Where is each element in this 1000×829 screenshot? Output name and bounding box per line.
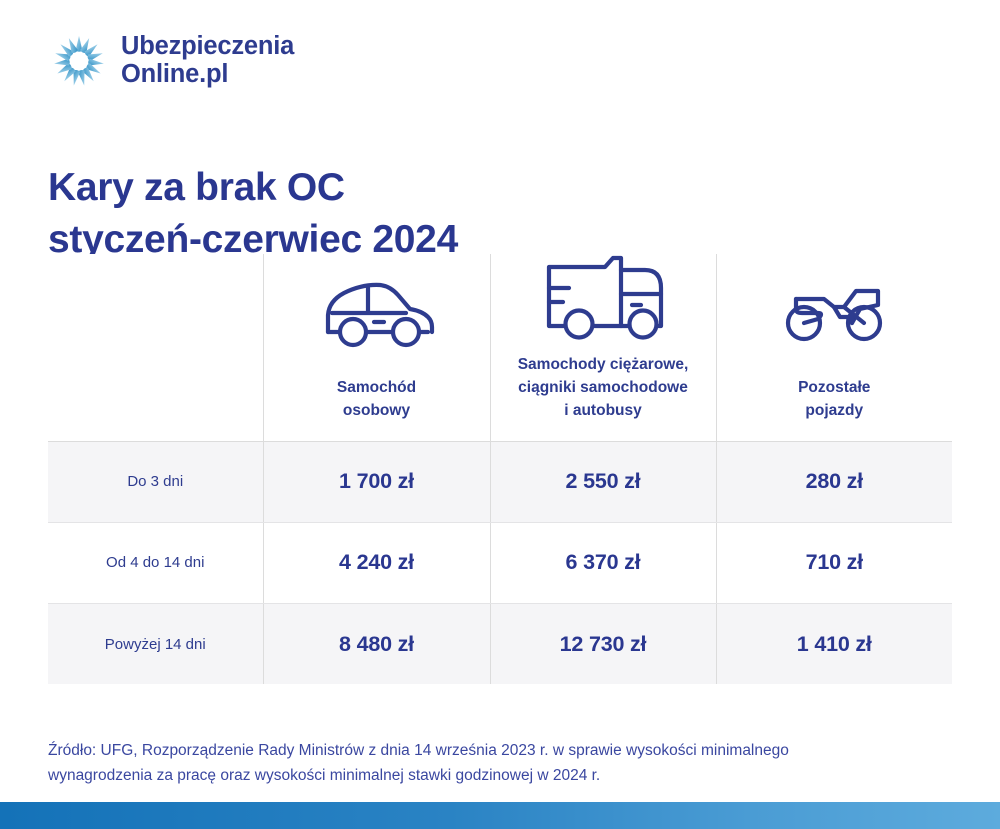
cell-value: 280 zł	[716, 441, 952, 522]
column-header-line1: Samochód	[337, 379, 416, 396]
truck-icon	[497, 254, 710, 340]
column-header-line1: Samochody ciężarowe,	[518, 356, 689, 373]
cell-value: 710 zł	[716, 522, 952, 603]
source-note-line2: wynagrodzenia za pracę oraz wysokości mi…	[48, 763, 878, 788]
penalty-table: Samochód osobowy	[48, 254, 952, 684]
table-row: Do 3 dni 1 700 zł 2 550 zł 280 zł	[48, 441, 952, 522]
footer-gradient-bar	[0, 802, 1000, 829]
column-header-line1: Pozostałe	[798, 379, 870, 396]
table-row: Powyżej 14 dni 8 480 zł 12 730 zł 1 410 …	[48, 603, 952, 684]
cell-value: 1 410 zł	[716, 603, 952, 684]
brand-name-line2: Online.pl	[121, 61, 294, 89]
column-header-label: Samochody ciężarowe, ciągniki samochodow…	[497, 354, 710, 423]
column-header-line2: osobowy	[343, 402, 410, 419]
column-header-line3: i autobusy	[564, 402, 642, 419]
page-title: Kary za brak OC styczeń-czerwiec 2024	[48, 162, 458, 266]
column-header-label: Samochód osobowy	[270, 377, 484, 423]
cell-value: 4 240 zł	[263, 522, 490, 603]
brand-name-line1: Ubezpieczenia	[121, 32, 294, 60]
cell-value: 1 700 zł	[263, 441, 490, 522]
table-header-row: Samochód osobowy	[48, 254, 952, 441]
brand-logo: Ubezpieczenia Online.pl	[48, 30, 294, 92]
source-note: Źródło: UFG, Rozporządzenie Rady Ministr…	[48, 738, 878, 788]
column-header-line2: ciągniki samochodowe	[518, 379, 688, 396]
column-header-other-vehicles: Pozostałe pojazdy	[716, 254, 952, 441]
row-label: Do 3 dni	[48, 441, 263, 522]
table-row: Od 4 do 14 dni 4 240 zł 6 370 zł 710 zł	[48, 522, 952, 603]
row-label: Powyżej 14 dni	[48, 603, 263, 684]
penalty-table-container: Samochód osobowy	[48, 254, 952, 684]
column-header-label: Pozostałe pojazdy	[723, 377, 947, 423]
column-header-passenger-car: Samochód osobowy	[263, 254, 490, 441]
row-label: Od 4 do 14 dni	[48, 522, 263, 603]
cell-value: 6 370 zł	[490, 522, 716, 603]
table-body: Do 3 dni 1 700 zł 2 550 zł 280 zł Od 4 d…	[48, 441, 952, 684]
table-header: Samochód osobowy	[48, 254, 952, 441]
sunburst-petals-icon	[48, 30, 110, 92]
cell-value: 8 480 zł	[263, 603, 490, 684]
cell-value: 12 730 zł	[490, 603, 716, 684]
column-header-line2: pojazdy	[805, 402, 863, 419]
page-title-line1: Kary za brak OC	[48, 166, 345, 209]
cell-value: 2 550 zł	[490, 441, 716, 522]
brand-name: Ubezpieczenia Online.pl	[121, 33, 294, 88]
column-header-truck: Samochody ciężarowe, ciągniki samochodow…	[490, 254, 716, 441]
header-corner-blank	[48, 254, 263, 441]
motorcycle-icon	[723, 277, 947, 363]
source-note-line1: Źródło: UFG, Rozporządzenie Rady Ministr…	[48, 742, 789, 759]
car-icon	[270, 277, 484, 363]
